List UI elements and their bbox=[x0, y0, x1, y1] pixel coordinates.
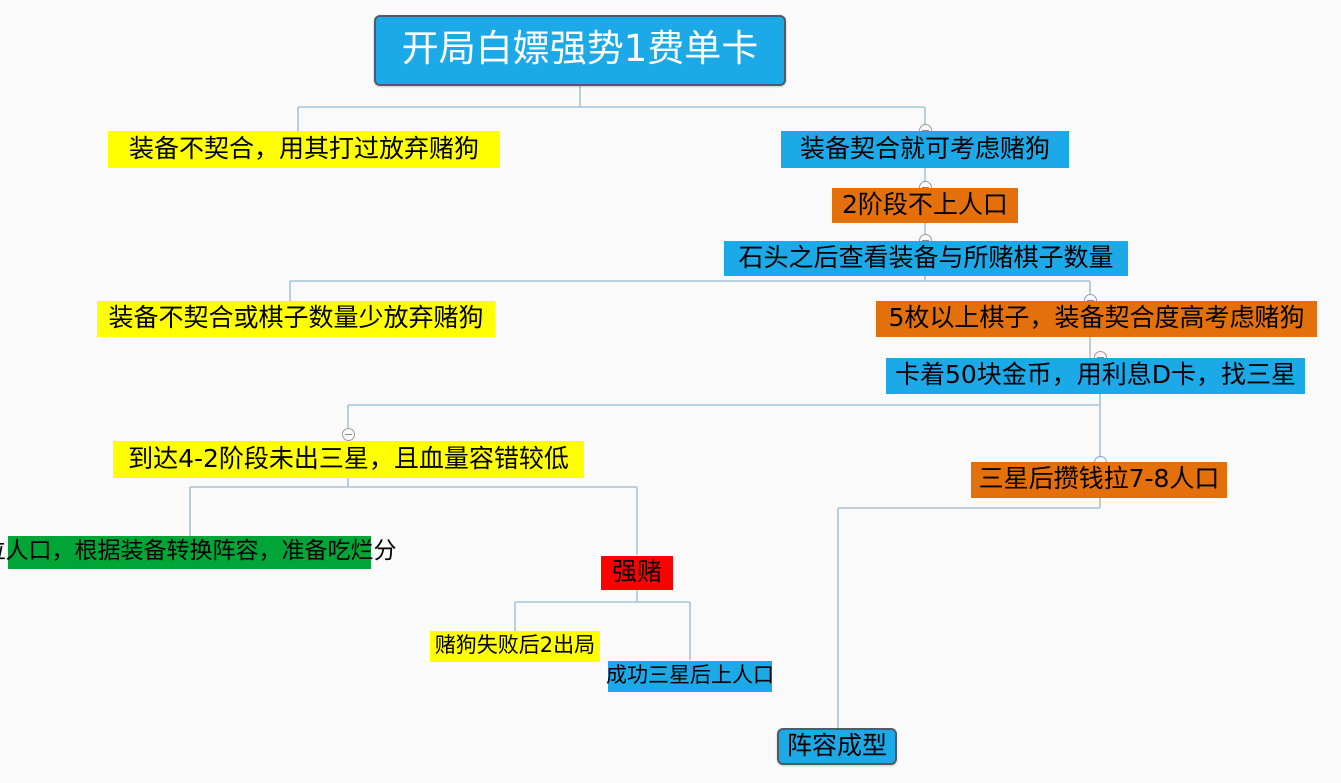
node-n1[interactable]: 装备不契合，用其打过放弃赌狗 bbox=[108, 131, 500, 168]
node-n3-label: 2阶段不上人口 bbox=[842, 192, 1008, 217]
node-n14-label: 阵容成型 bbox=[787, 733, 887, 758]
mindmap-canvas: 开局白嫖强势1费单卡 装备不契合，用其打过放弃赌狗 装备契合就可考虑赌狗 2阶段… bbox=[0, 0, 1341, 783]
node-n14[interactable]: 阵容成型 bbox=[777, 728, 897, 765]
node-n10[interactable]: 拉人口，根据装备转换阵容，准备吃烂分 bbox=[8, 536, 371, 569]
node-n11-label: 强赌 bbox=[612, 559, 662, 584]
node-n8[interactable]: 到达4-2阶段未出三星，且血量容错较低 bbox=[113, 441, 584, 478]
root-node-label: 开局白嫖强势1费单卡 bbox=[402, 30, 759, 67]
node-n12-label: 赌狗失败后2出局 bbox=[435, 635, 595, 656]
root-node[interactable]: 开局白嫖强势1费单卡 bbox=[374, 15, 786, 86]
node-n4[interactable]: 石头之后查看装备与所赌棋子数量 bbox=[724, 241, 1128, 276]
node-n9[interactable]: 三星后攒钱拉7-8人口 bbox=[971, 462, 1227, 498]
node-n2[interactable]: 装备契合就可考虑赌狗 bbox=[781, 131, 1069, 168]
node-n2-label: 装备契合就可考虑赌狗 bbox=[800, 136, 1050, 161]
node-n6[interactable]: 5枚以上棋子，装备契合度高考虑赌狗 bbox=[876, 301, 1317, 337]
node-n11[interactable]: 强赌 bbox=[601, 556, 673, 590]
node-n1-label: 装备不契合，用其打过放弃赌狗 bbox=[129, 136, 479, 161]
node-n5[interactable]: 装备不契合或棋子数量少放弃赌狗 bbox=[97, 301, 495, 337]
node-n13[interactable]: 成功三星后上人口 bbox=[608, 661, 772, 692]
node-n13-label: 成功三星后上人口 bbox=[606, 665, 774, 686]
node-n10-label: 拉人口，根据装备转换阵容，准备吃烂分 bbox=[0, 540, 397, 563]
node-n7[interactable]: 卡着50块金币，用利息D卡，找三星 bbox=[886, 358, 1305, 394]
node-n5-label: 装备不契合或棋子数量少放弃赌狗 bbox=[108, 305, 483, 330]
node-n7-label: 卡着50块金币，用利息D卡，找三星 bbox=[895, 362, 1296, 387]
node-n3[interactable]: 2阶段不上人口 bbox=[832, 188, 1018, 223]
node-n8-label: 到达4-2阶段未出三星，且血量容错较低 bbox=[128, 446, 569, 471]
collapse-marker-n8[interactable] bbox=[342, 428, 355, 441]
node-n12[interactable]: 赌狗失败后2出局 bbox=[430, 631, 600, 662]
node-n6-label: 5枚以上棋子，装备契合度高考虑赌狗 bbox=[889, 305, 1305, 330]
node-n9-label: 三星后攒钱拉7-8人口 bbox=[979, 466, 1220, 491]
node-n4-label: 石头之后查看装备与所赌棋子数量 bbox=[738, 245, 1113, 270]
